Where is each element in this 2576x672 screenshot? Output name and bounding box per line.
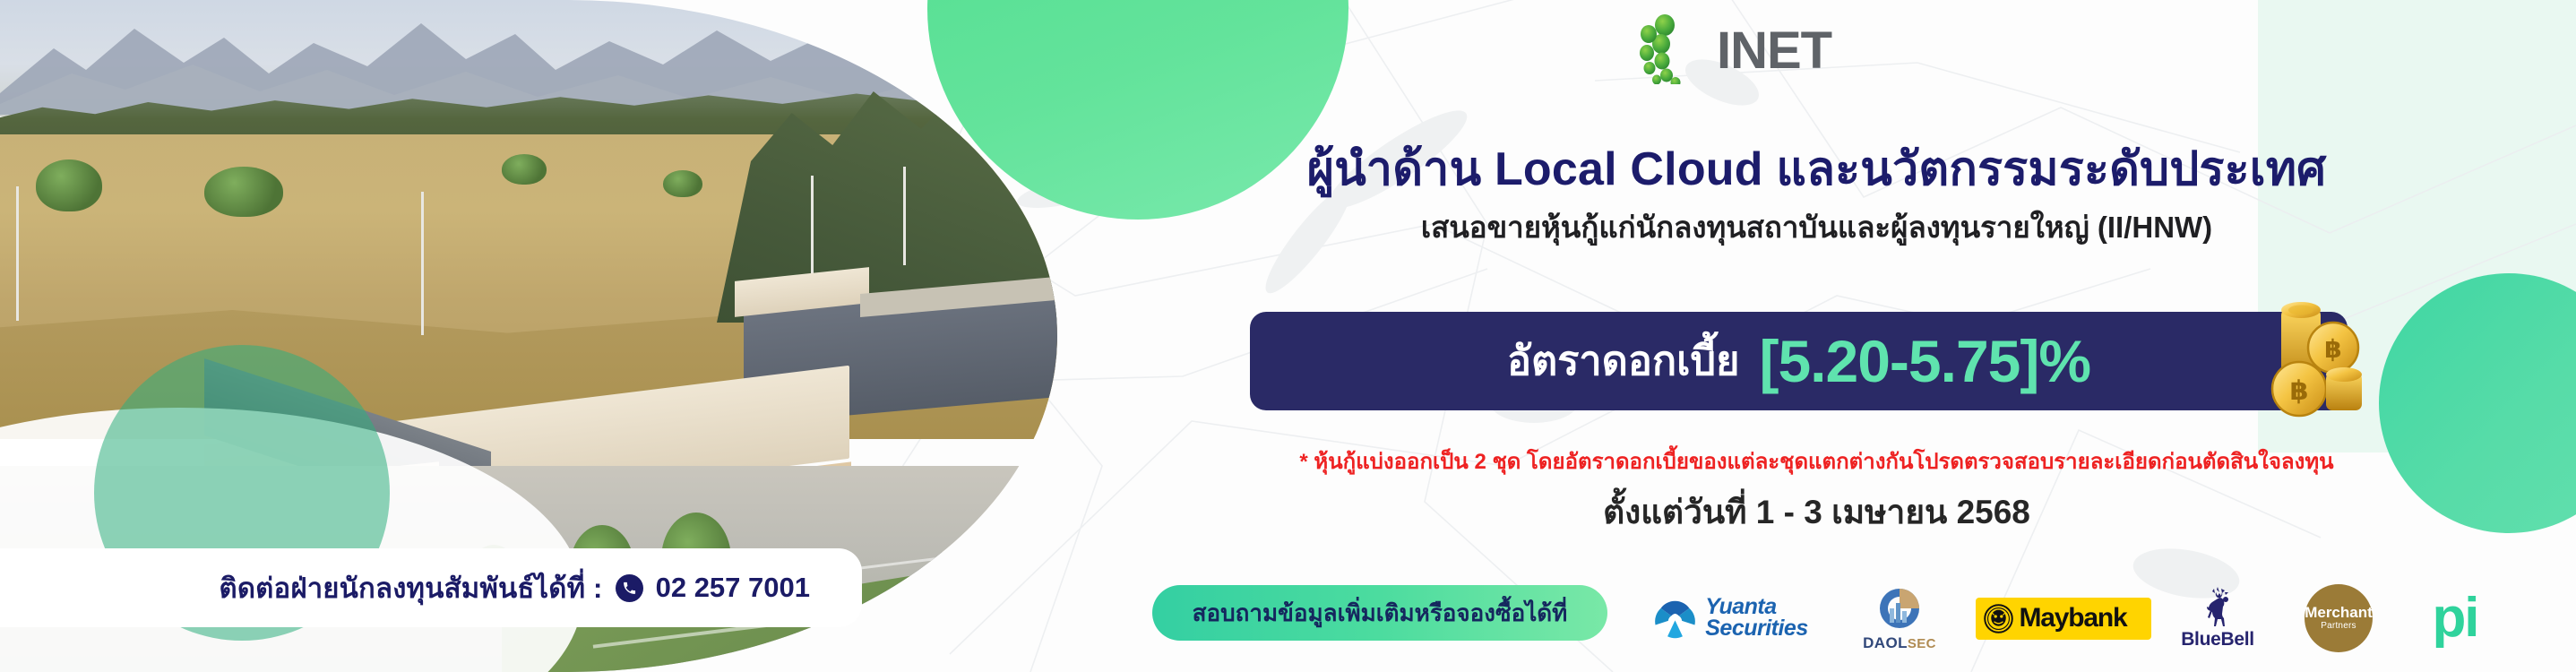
broker-logo-merchant-partners[interactable]: Merchant Partners	[2276, 578, 2401, 659]
daol-line1: DAOL	[1863, 634, 1908, 651]
inet-dots-icon	[1640, 13, 1726, 84]
pi-wordmark: pi	[2432, 593, 2477, 643]
inquiry-cta-label: สอบถามข้อมูลเพิ่มเติมหรือจองซื้อได้ที่	[1193, 595, 1568, 632]
maybank-badge: Maybank	[1976, 598, 2151, 640]
broker-logo-pi[interactable]: pi	[2401, 578, 2509, 659]
bottom-row: สอบถามข้อมูลเพิ่มเติมหรือจองซื้อได้ที่ Y…	[1057, 578, 2576, 659]
interest-rate-value: [5.20-5.75]%	[1759, 330, 2090, 392]
interest-rate-box: อัตราดอกเบี้ย [5.20-5.75]%	[1250, 312, 2348, 410]
svg-text:฿: ฿	[2324, 334, 2341, 364]
daol-line2: SEC	[1908, 636, 1936, 651]
merchant-line2: Partners	[2321, 621, 2356, 632]
daol-pie-icon	[1876, 585, 1923, 632]
page-subtitle: เสนอขายหุ้นกู้แก่นักลงทุนสถาบันและผู้ลงท…	[1057, 209, 2576, 246]
photo-pole	[421, 192, 424, 335]
yuanta-wordmark: Yuanta Securities	[1705, 597, 1808, 640]
broker-logo-maybank[interactable]: Maybank	[1967, 578, 2159, 659]
yuanta-line2: Securities	[1705, 618, 1808, 640]
photo-pole	[16, 186, 19, 321]
broker-logo-bluebell[interactable]: BlueBell	[2159, 578, 2276, 659]
offer-disclaimer: * หุ้นกู้แบ่งออกเป็น 2 ชุด โดยอัตราดอกเบ…	[1057, 448, 2576, 477]
bluebell-wordmark: BlueBell	[2181, 629, 2254, 650]
daol-wordmark: DAOLSEC	[1863, 634, 1936, 652]
photo-tree	[204, 167, 283, 217]
offer-content: INET ผู้นำด้าน Local Cloud และนวัตกรรมระ…	[1057, 0, 2576, 672]
inet-logo[interactable]: INET	[1640, 13, 1917, 82]
merchant-circle-icon: Merchant Partners	[2305, 584, 2373, 652]
photo-pole	[903, 167, 906, 265]
maybank-tiger-icon	[1984, 604, 2013, 633]
broker-logo-yuanta[interactable]: Yuanta Securities	[1631, 578, 1832, 659]
inet-bond-offering-banner: ติดต่อฝ่ายนักลงทุนสัมพันธ์ได้ที่ : 02 25…	[0, 0, 2576, 672]
broker-logo-list: Yuanta Securities DAOLSEC	[1631, 578, 2567, 659]
photo-tree	[36, 159, 102, 211]
photo-tree	[663, 170, 702, 197]
investor-relations-contact-box[interactable]: ติดต่อฝ่ายนักลงทุนสัมพันธ์ได้ที่ : 02 25…	[0, 548, 862, 627]
contact-label: ติดต่อฝ่ายนักลงทุนสัมพันธ์ได้ที่ :	[220, 565, 603, 610]
inet-logo-wordmark: INET	[1717, 25, 1831, 77]
page-title: ผู้นำด้าน Local Cloud และนวัตกรรมระดับปร…	[1057, 142, 2576, 197]
contact-phone-number: 02 257 7001	[656, 572, 810, 604]
broker-logo-daol[interactable]: DAOLSEC	[1832, 578, 1967, 659]
interest-rate-label: อัตราดอกเบี้ย	[1507, 334, 1740, 388]
svg-text:฿: ฿	[2290, 375, 2309, 407]
bluebell-deer-icon	[2198, 587, 2237, 628]
photo-tree	[502, 154, 547, 185]
phone-icon	[616, 574, 643, 602]
merchant-line1: Merchant	[2305, 605, 2373, 621]
inquiry-cta-button[interactable]: สอบถามข้อมูลเพิ่มเติมหรือจองซื้อได้ที่	[1152, 585, 1607, 641]
maybank-wordmark: Maybank	[2020, 603, 2127, 633]
yuanta-star-icon	[1655, 599, 1695, 639]
gold-coins-icon: ฿ ฿	[2256, 296, 2373, 421]
offer-date-range: ตั้งแต่วันที่ 1 - 3 เมษายน 2568	[1057, 491, 2576, 534]
